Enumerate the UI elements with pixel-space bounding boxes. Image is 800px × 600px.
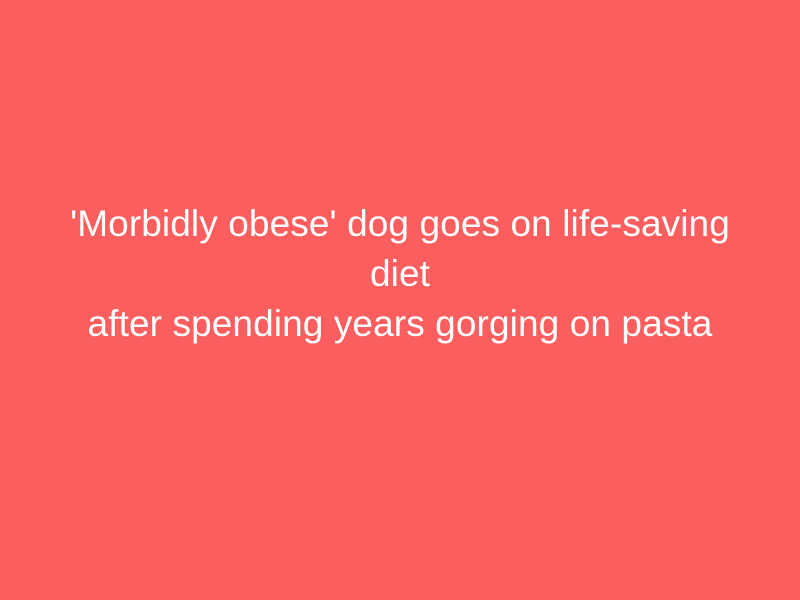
headline-block: 'Morbidly obese' dog goes on life-saving… (40, 199, 760, 401)
headline-card: 'Morbidly obese' dog goes on life-saving… (0, 0, 800, 600)
headline-title: 'Morbidly obese' dog goes on life-saving… (40, 199, 760, 349)
